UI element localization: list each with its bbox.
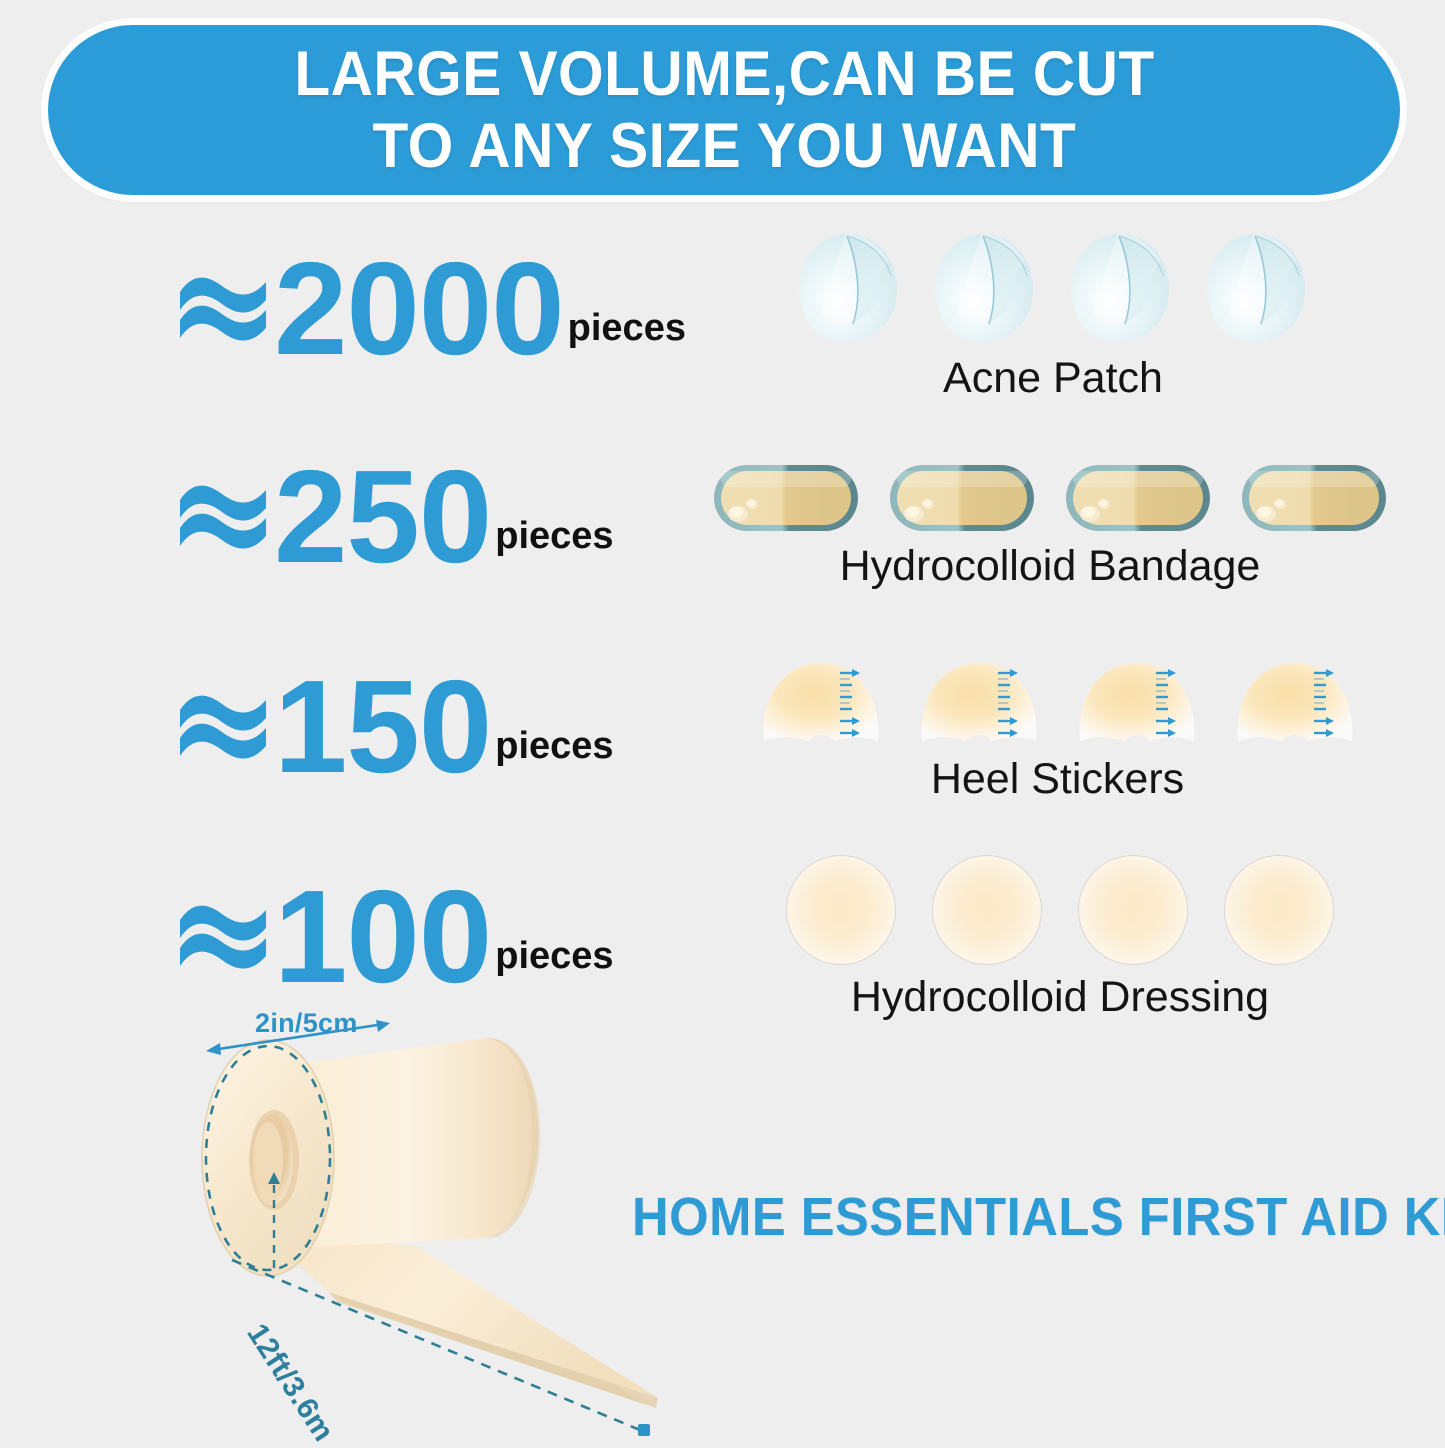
product-group-heel-stickers: Heel Stickers	[730, 655, 1385, 805]
count-row-hydrocolloid-dressing: 100 pieces	[178, 878, 614, 996]
count-row-heel-stickers: 150 pieces	[178, 668, 614, 786]
approximately-wave-icon	[178, 480, 270, 554]
count-unit: pieces	[491, 510, 613, 576]
acne-patch-icon	[1203, 228, 1311, 346]
footer-headline: HOME ESSENTIALS FIRST AID KIT	[632, 1186, 1445, 1248]
count-row-hydrocolloid-bandage: 250 pieces	[178, 458, 614, 576]
banner-line-1: LARGE VOLUME,CAN BE CUT	[294, 38, 1154, 110]
count-unit: pieces	[491, 930, 613, 996]
product-label: Acne Patch	[733, 352, 1373, 404]
product-label: Hydrocolloid Bandage	[700, 540, 1400, 592]
count-unit: pieces	[564, 302, 686, 368]
product-icon-row	[733, 228, 1373, 346]
heel-sticker-icon	[756, 655, 886, 747]
hydrocolloid-bandage-icon	[712, 462, 860, 534]
hydrocolloid-bandage-icon	[1240, 462, 1388, 534]
count-value: 150	[274, 668, 491, 786]
heel-sticker-icon	[914, 655, 1044, 747]
product-group-hydrocolloid-dressing: Hydrocolloid Dressing	[740, 855, 1380, 1023]
heel-sticker-icon	[1230, 655, 1360, 747]
hydrocolloid-dressing-icon	[1078, 855, 1188, 965]
acne-patch-icon	[931, 228, 1039, 346]
count-value: 2000	[274, 250, 564, 368]
count-row-acne-patch: 2000 pieces	[178, 250, 686, 368]
hydrocolloid-bandage-icon	[1064, 462, 1212, 534]
approximately-wave-icon	[178, 690, 270, 764]
count-value: 250	[274, 458, 491, 576]
heel-sticker-icon	[1072, 655, 1202, 747]
hydrocolloid-dressing-icon	[786, 855, 896, 965]
count-value: 100	[274, 878, 491, 996]
approximately-wave-icon	[178, 272, 270, 346]
product-group-acne-patch: Acne Patch	[733, 228, 1373, 404]
banner-line-2: TO ANY SIZE YOU WANT	[372, 110, 1076, 182]
product-label: Hydrocolloid Dressing	[740, 971, 1380, 1023]
product-group-hydrocolloid-bandage: Hydrocolloid Bandage	[700, 462, 1400, 592]
product-icon-row	[740, 855, 1380, 965]
hydrocolloid-bandage-icon	[888, 462, 1036, 534]
product-icon-row	[730, 655, 1385, 747]
approximately-wave-icon	[178, 900, 270, 974]
headline-banner: LARGE VOLUME,CAN BE CUT TO ANY SIZE YOU …	[48, 25, 1400, 195]
product-label: Heel Stickers	[730, 753, 1385, 805]
product-icon-row	[700, 462, 1400, 534]
acne-patch-icon	[795, 228, 903, 346]
roll-width-label: 2in/5cm	[255, 1008, 358, 1039]
count-unit: pieces	[491, 720, 613, 786]
hydrocolloid-dressing-icon	[932, 855, 1042, 965]
hydrocolloid-dressing-icon	[1224, 855, 1334, 965]
acne-patch-icon	[1067, 228, 1175, 346]
